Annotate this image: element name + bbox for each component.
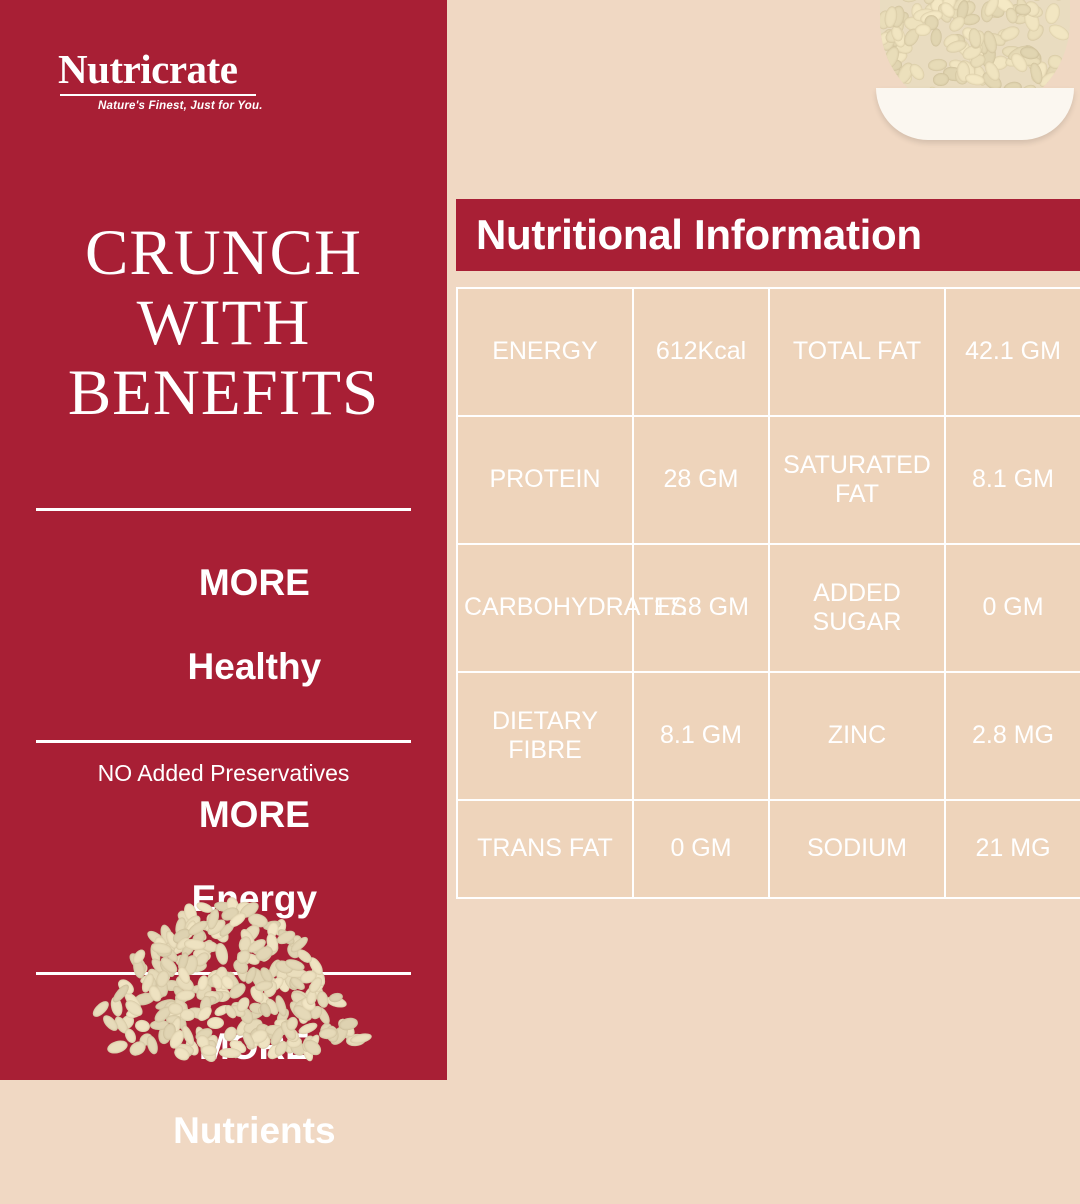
nutrient-label: TRANS FAT [457, 800, 633, 898]
table-row: CARBOHYDRATES 17.8 GM ADDED SUGAR 0 GM [457, 544, 1080, 672]
brand-logo: Nutricrate Nature's Finest, Just for You… [58, 48, 398, 112]
table-row: PROTEIN 28 GM SATURATED FAT 8.1 GM [457, 416, 1080, 544]
brand-name: Nutricrate [58, 48, 398, 91]
brand-tagline: Nature's Finest, Just for You. [98, 100, 398, 112]
table-row: TRANS FAT 0 GM SODIUM 21 MG [457, 800, 1080, 898]
headline-line-1: CRUNCH [0, 218, 447, 288]
headline-line-3: BENEFITS [0, 358, 447, 428]
nutrition-title: Nutritional Information [456, 211, 922, 259]
seed [1046, 21, 1070, 43]
claim-prefix: MORE [199, 562, 310, 603]
seed [1043, 3, 1061, 26]
nutrient-label: ZINC [769, 672, 945, 800]
nutrient-label: SATURATED FAT [769, 416, 945, 544]
headline: CRUNCH WITH BENEFITS [0, 218, 447, 429]
nutrient-value: 21 MG [945, 800, 1080, 898]
table-row: ENERGY 612Kcal TOTAL FAT 42.1 GM [457, 288, 1080, 416]
nutrient-value: 42.1 GM [945, 288, 1080, 416]
nutrient-value: 8.1 GM [945, 416, 1080, 544]
table-row: DIETARY FIBRE 8.1 GM ZINC 2.8 MG [457, 672, 1080, 800]
nutrient-label: TOTAL FAT [769, 288, 945, 416]
nutrient-value: 0 GM [945, 544, 1080, 672]
headline-line-2: WITH [0, 288, 447, 358]
claim-item: MORE Healthy [36, 511, 411, 740]
bowl-rim [876, 88, 1074, 140]
claim-word: Nutrients [173, 1110, 335, 1151]
claim-word: Healthy [188, 646, 322, 687]
nutrient-value: 28 GM [633, 416, 769, 544]
seed [914, 23, 932, 37]
nutrient-label: DIETARY FIBRE [457, 672, 633, 800]
claim-word: Energy [192, 878, 317, 919]
seed [1043, 0, 1066, 1]
seed [932, 72, 949, 87]
claims-list: MORE Healthy MORE Energy MORE Nutrients [36, 508, 411, 1204]
brand-divider [60, 94, 256, 96]
seed [930, 28, 942, 47]
claim-item: MORE Nutrients [36, 975, 411, 1204]
nutrient-value: 2.8 MG [945, 672, 1080, 800]
nutrition-table: ENERGY 612Kcal TOTAL FAT 42.1 GM PROTEIN… [456, 287, 1080, 899]
nutrient-label: ADDED SUGAR [769, 544, 945, 672]
nutrition-title-bar: Nutritional Information [456, 199, 1080, 271]
nutrient-value: 17.8 GM [633, 544, 769, 672]
left-red-panel: Nutricrate Nature's Finest, Just for You… [0, 0, 447, 1080]
nutrient-value: 0 GM [633, 800, 769, 898]
nutrient-value: 612Kcal [633, 288, 769, 416]
nutrient-label: PROTEIN [457, 416, 633, 544]
nutrient-label: ENERGY [457, 288, 633, 416]
nutrient-value: 8.1 GM [633, 672, 769, 800]
seed-bowl-illustration [880, 0, 1080, 166]
nutrient-label: SODIUM [769, 800, 945, 898]
claim-prefix: MORE [199, 794, 310, 835]
footnote: NO Added Preservatives [0, 760, 447, 787]
claim-prefix: MORE [199, 1026, 310, 1067]
nutrient-label: CARBOHYDRATES [457, 544, 633, 672]
